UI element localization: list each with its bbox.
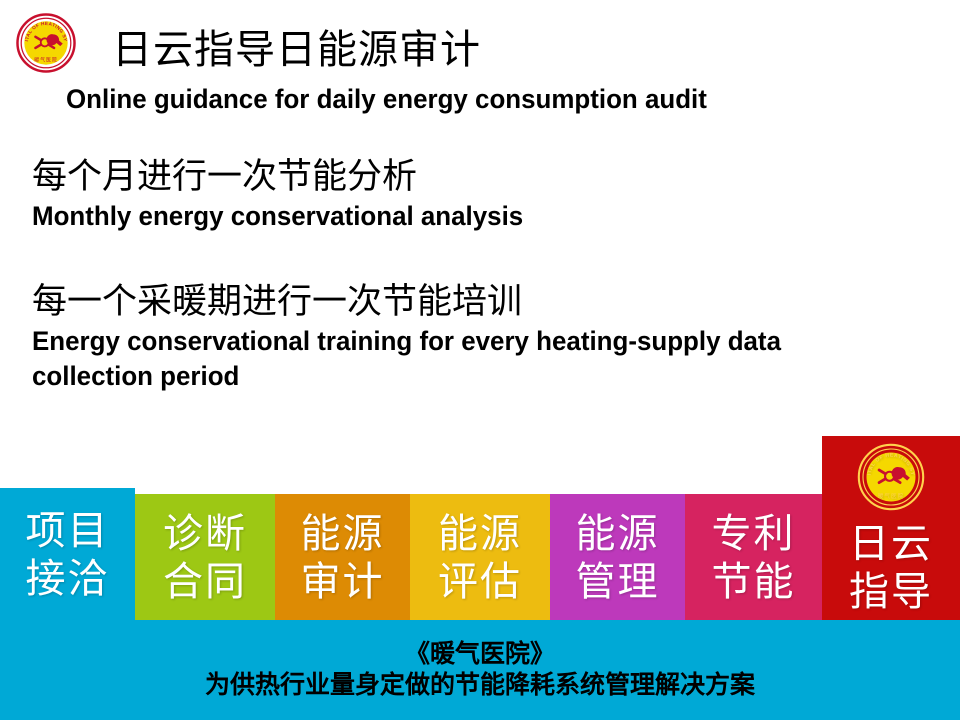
process-step-online-guidance-line2: 指导 xyxy=(849,568,933,616)
footer-brand-name: 《暖气医院》 xyxy=(405,639,555,669)
process-step-online-guidance-line1: 日云 xyxy=(849,520,933,568)
text-block-training-en: Energy conservational training for every… xyxy=(32,324,896,394)
slide-canvas: HOSPITAL OF HEATING SYSTEM 暖气医院 日云指导日能源审… xyxy=(0,0,960,720)
page-title-cn: 日云指导日能源审计 xyxy=(112,27,481,73)
text-block-training: 每一个采暖期进行一次节能培训 Energy conservational tra… xyxy=(32,280,932,394)
process-step-diagnosis-contract[interactable]: 诊断 合同 xyxy=(135,494,275,622)
hospital-of-heating-system-logo-badge: HOSPITAL OF HEATING SYSTEM 暖气医院 xyxy=(856,442,926,512)
text-block-monthly-cn: 每个月进行一次节能分析 xyxy=(32,155,544,199)
process-step-energy-assessment-line1: 能源 xyxy=(438,510,522,558)
process-step-patent-saving[interactable]: 专利 节能 xyxy=(685,494,822,622)
process-step-diagnosis-contract-line1: 诊断 xyxy=(163,510,247,558)
process-step-energy-management-line2: 管理 xyxy=(576,558,660,606)
svg-text:暖气医院: 暖气医院 xyxy=(34,57,58,64)
process-step-project-contact[interactable]: 项目 接洽 xyxy=(0,488,135,622)
process-strip: 项目 接洽 诊断 合同 能源 审计 能源 评估 能源 管理 专利 节能 xyxy=(0,435,960,625)
process-step-energy-audit[interactable]: 能源 审计 xyxy=(275,494,410,622)
process-step-patent-saving-line2: 节能 xyxy=(712,558,796,606)
process-step-energy-assessment[interactable]: 能源 评估 xyxy=(410,494,550,622)
process-step-energy-audit-line2: 审计 xyxy=(301,558,385,606)
process-step-project-contact-line2: 接洽 xyxy=(26,555,110,603)
footer-banner: 《暖气医院》 为供热行业量身定做的节能降耗系统管理解决方案 xyxy=(0,620,960,720)
footer-tagline: 为供热行业量身定做的节能降耗系统管理解决方案 xyxy=(205,669,755,701)
process-step-diagnosis-contract-line2: 合同 xyxy=(163,558,247,606)
text-block-monthly: 每个月进行一次节能分析 Monthly energy conservationa… xyxy=(32,155,544,234)
text-block-training-cn: 每一个采暖期进行一次节能培训 xyxy=(32,280,932,324)
process-step-energy-assessment-line2: 评估 xyxy=(438,558,522,606)
process-step-online-guidance[interactable]: HOSPITAL OF HEATING SYSTEM 暖气医院 日云 指导 xyxy=(822,436,960,622)
process-step-energy-audit-line1: 能源 xyxy=(301,510,385,558)
process-step-energy-management[interactable]: 能源 管理 xyxy=(550,494,685,622)
text-block-monthly-en: Monthly energy conservational analysis xyxy=(32,199,523,234)
page-title-en: Online guidance for daily energy consump… xyxy=(66,83,707,115)
process-step-energy-management-line1: 能源 xyxy=(576,510,660,558)
process-step-patent-saving-line1: 专利 xyxy=(712,510,796,558)
process-step-project-contact-line1: 项目 xyxy=(26,507,110,555)
hospital-of-heating-system-logo: HOSPITAL OF HEATING SYSTEM 暖气医院 xyxy=(15,12,77,74)
